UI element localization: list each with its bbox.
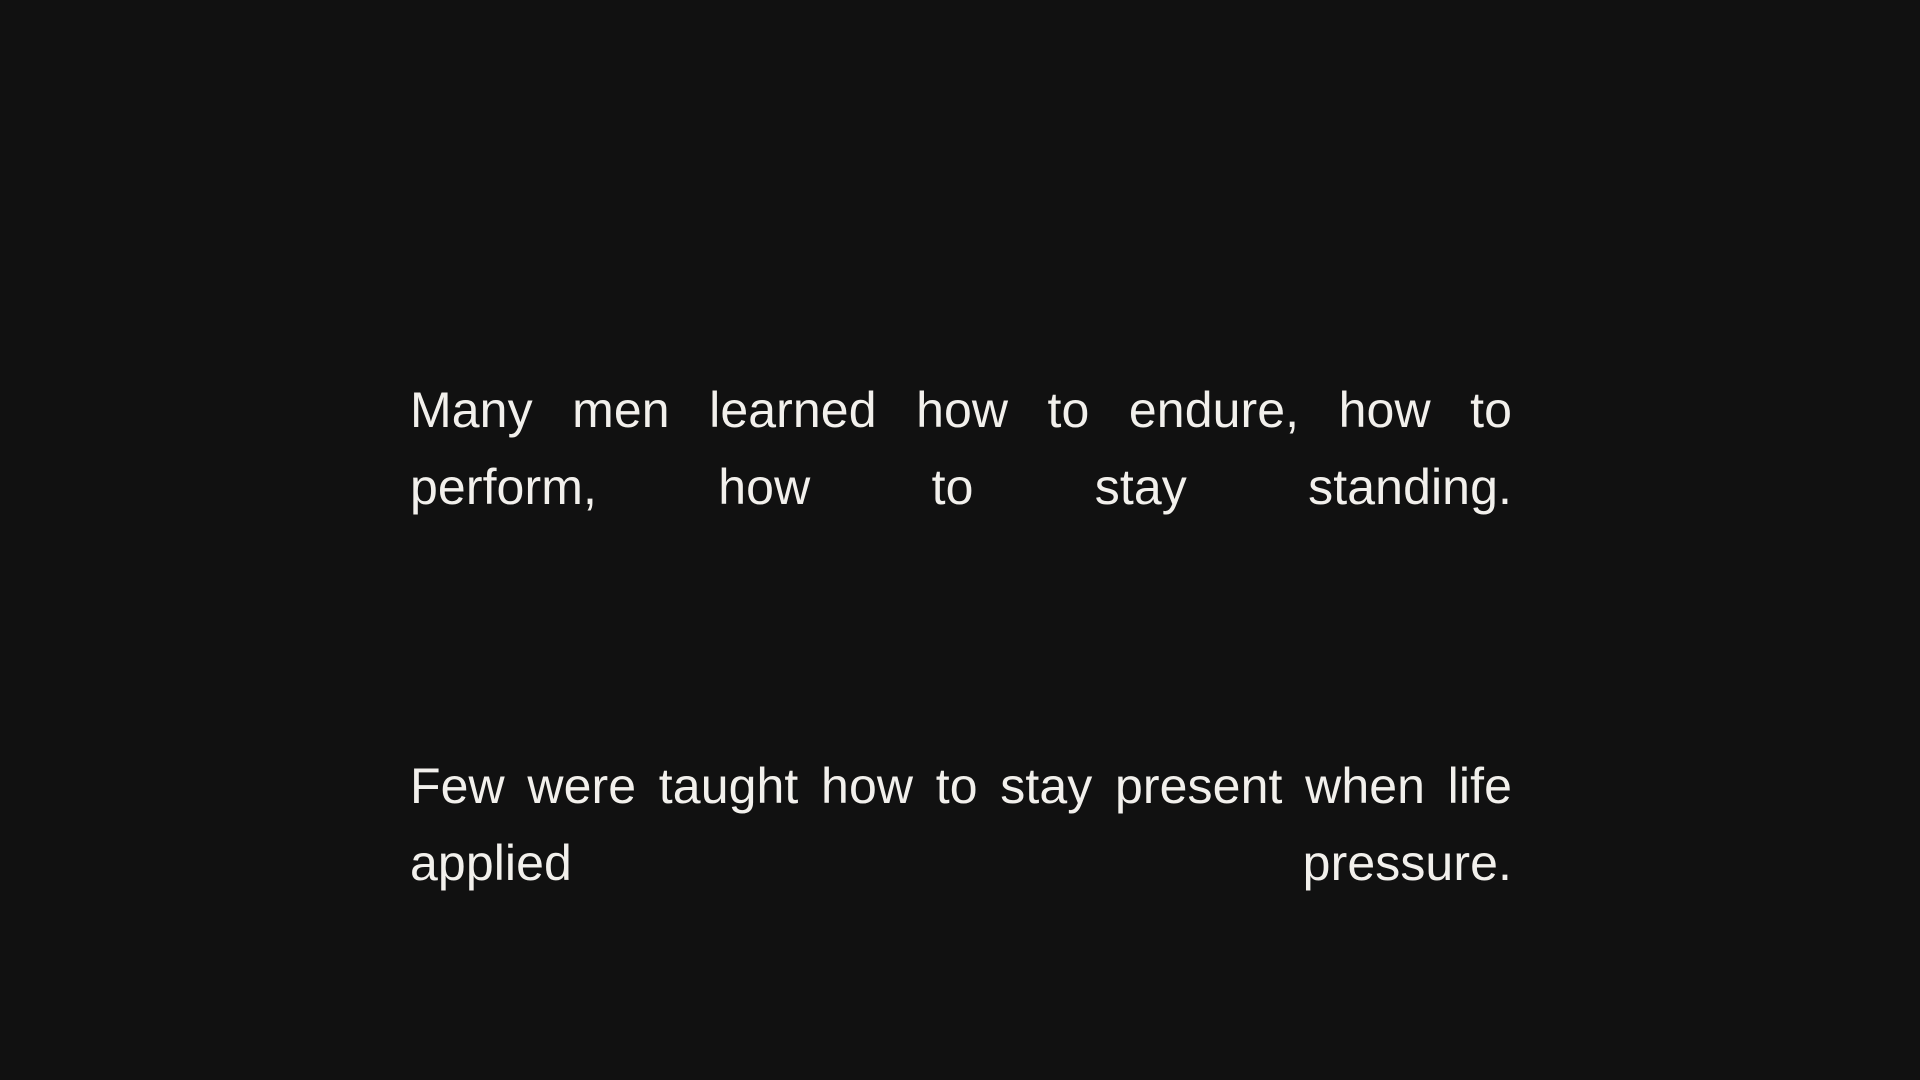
quote-text-block: Many men learned how to endure, how to p…: [410, 372, 1512, 979]
quote-paragraph-2: Few were taught how to stay present when…: [410, 748, 1512, 979]
slide-canvas: Many men learned how to endure, how to p…: [0, 0, 1920, 1080]
quote-paragraph-1: Many men learned how to endure, how to p…: [410, 372, 1512, 603]
